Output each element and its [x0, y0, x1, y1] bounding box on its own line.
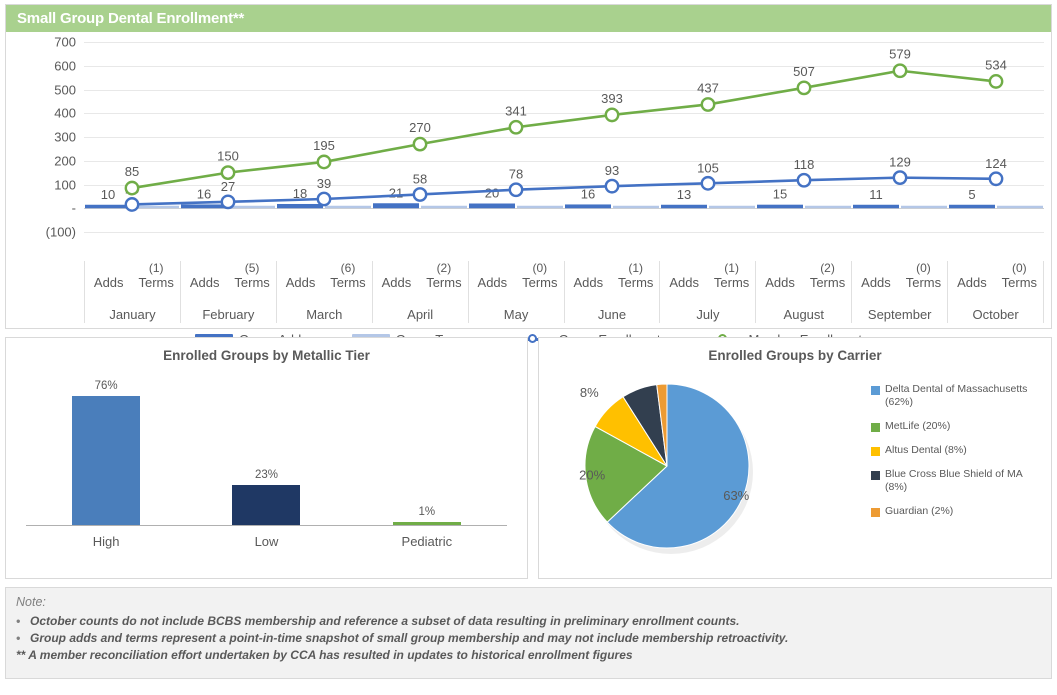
adds-header: Adds	[85, 275, 132, 290]
note-bullet-item: •Group adds and terms represent a point-…	[16, 630, 1041, 647]
group-adds-bar	[277, 204, 323, 208]
terms-header: Terms	[132, 275, 179, 290]
x-axis-month-label: March	[277, 307, 372, 322]
tier-bar-value-label: 1%	[419, 506, 436, 518]
x-axis-month-label: August	[756, 307, 851, 322]
bullet-icon: •	[16, 630, 24, 647]
tier-axis-line	[26, 525, 507, 526]
tier-bar-column: 76%	[26, 380, 186, 525]
group-enrollment-value-label: 39	[317, 176, 331, 191]
group-enrollment-value-label: 129	[889, 155, 911, 170]
member-enrollment-point	[990, 75, 1002, 87]
x-axis-terms-cell: (6)Terms	[324, 261, 371, 295]
y-axis-tick: 500	[6, 82, 76, 97]
x-axis-adds-cell: Adds	[948, 261, 995, 295]
x-axis-adds-cell: Adds	[373, 261, 420, 295]
group-adds-bar	[85, 205, 131, 209]
group-terms-value-label: (1)	[132, 261, 179, 275]
pie-legend: Delta Dental of Massachusetts (62%)MetLi…	[871, 383, 1043, 529]
pie-legend-label: Altus Dental (8%)	[885, 444, 967, 457]
lower-charts-row: Enrolled Groups by Metallic Tier 76%23%1…	[5, 337, 1052, 579]
group-enrollment-value-label: 78	[509, 167, 523, 182]
member-enrollment-value-label: 507	[793, 64, 815, 79]
x-axis-terms-cell: (1)Terms	[708, 261, 755, 295]
group-enrollment-value-label: 58	[413, 171, 427, 186]
x-axis-terms-cell: (0)Terms	[900, 261, 947, 295]
group-terms-value-label: (1)	[612, 261, 659, 275]
note-body: •October counts do not include BCBS memb…	[16, 613, 1041, 647]
group-adds-value-label: 15	[773, 187, 787, 202]
x-axis-month-label: June	[565, 307, 660, 322]
pie-slice-label: 63%	[723, 488, 749, 503]
y-axis-tick: 200	[6, 153, 76, 168]
member-enrollment-value-label: 150	[217, 149, 239, 164]
tier-category-labels: HighLowPediatric	[26, 534, 507, 556]
dashboard-page: Small Group Dental Enrollment** 70060050…	[0, 0, 1057, 695]
pie-legend-label: Blue Cross Blue Shield of MA (8%)	[885, 468, 1043, 494]
carrier-title: Enrolled Groups by Carrier	[539, 338, 1051, 363]
tier-category-label: Pediatric	[347, 534, 507, 556]
group-adds-value-label: 10	[101, 187, 115, 202]
group-adds-bar	[565, 204, 611, 208]
pie-legend-label: Guardian (2%)	[885, 505, 953, 518]
combo-chart-plot: 1016182120161315115162739587893105118129…	[84, 42, 1044, 232]
x-axis-month-group: Adds(0)TermsSeptember	[852, 261, 948, 323]
group-adds-bar	[853, 205, 899, 209]
group-terms-bar	[709, 206, 755, 209]
note-footnote: ** A member reconciliation effort undert…	[16, 647, 1041, 664]
tier-bars: 76%23%1%	[26, 380, 507, 525]
terms-header: Terms	[516, 275, 563, 290]
bullet-icon: •	[16, 613, 24, 630]
adds-header: Adds	[565, 275, 612, 290]
adds-header: Adds	[181, 275, 228, 290]
pie-legend-swatch-icon	[871, 508, 880, 517]
gridline	[84, 232, 1044, 233]
member-enrollment-point	[126, 182, 138, 194]
group-enrollment-point	[894, 171, 906, 183]
note-panel: Note: •October counts do not include BCB…	[5, 587, 1052, 679]
member-enrollment-point	[702, 98, 714, 110]
group-adds-bar	[373, 203, 419, 208]
x-axis-month-label: May	[469, 307, 564, 322]
group-enrollment-point	[126, 198, 138, 210]
member-enrollment-point	[510, 121, 522, 133]
pie-legend-label: Delta Dental of Massachusetts (62%)	[885, 383, 1043, 409]
member-enrollment-point	[606, 109, 618, 121]
x-axis-month-label: October	[948, 307, 1043, 322]
y-axis-tick: (100)	[6, 225, 76, 240]
group-enrollment-line	[132, 178, 996, 205]
pie-legend-item[interactable]: Guardian (2%)	[871, 505, 1043, 518]
group-terms-bar	[229, 206, 275, 209]
pie-legend-item[interactable]: Altus Dental (8%)	[871, 444, 1043, 457]
x-axis-month-group: Adds(2)TermsApril	[373, 261, 469, 323]
group-adds-value-label: 5	[968, 187, 975, 202]
pie-slice-label: 20%	[579, 467, 605, 482]
tier-bar-value-label: 76%	[95, 380, 118, 392]
group-terms-bar	[997, 206, 1043, 209]
y-axis-tick: 700	[6, 35, 76, 50]
enrollment-chart-panel: Small Group Dental Enrollment** 70060050…	[5, 4, 1052, 329]
adds-header: Adds	[948, 275, 995, 290]
pie-legend-swatch-icon	[871, 386, 880, 395]
pie-slice-label: 8%	[580, 385, 599, 400]
group-terms-bar	[421, 206, 467, 209]
pie-legend-label: MetLife (20%)	[885, 420, 950, 433]
group-terms-value-label: (5)	[228, 261, 275, 275]
x-axis-month-label: February	[181, 307, 276, 322]
pie-svg: 63%20%8%7%2%	[557, 371, 877, 561]
x-axis-terms-cell: (1)Terms	[612, 261, 659, 295]
group-adds-value-label: 21	[389, 185, 403, 200]
page-title: Small Group Dental Enrollment**	[17, 10, 244, 27]
terms-header: Terms	[708, 275, 755, 290]
terms-header: Terms	[804, 275, 851, 290]
terms-header: Terms	[612, 275, 659, 290]
group-terms-bar	[805, 206, 851, 209]
x-axis-adds-cell: Adds	[181, 261, 228, 295]
group-enrollment-point	[798, 174, 810, 186]
group-terms-bar	[613, 206, 659, 209]
metallic-tier-title: Enrolled Groups by Metallic Tier	[6, 338, 527, 363]
x-axis-terms-cell: (0)Terms	[996, 261, 1043, 295]
member-enrollment-value-label: 85	[125, 164, 139, 179]
group-enrollment-point	[510, 184, 522, 196]
pie-legend-item[interactable]: Delta Dental of Massachusetts (62%)	[871, 383, 1043, 409]
group-enrollment-point	[222, 196, 234, 208]
group-adds-value-label: 16	[581, 186, 595, 201]
group-adds-value-label: 11	[869, 187, 883, 202]
tier-bar	[72, 396, 140, 525]
terms-header: Terms	[228, 275, 275, 290]
x-axis-month-label: July	[660, 307, 755, 322]
tier-bar	[232, 485, 300, 525]
y-axis-tick: 300	[6, 130, 76, 145]
x-axis-table: Adds(1)TermsJanuaryAdds(5)TermsFebruaryA…	[84, 261, 1044, 323]
adds-header: Adds	[277, 275, 324, 290]
group-terms-bar	[325, 206, 371, 209]
carrier-pie-chart: 63%20%8%7%2% Delta Dental of Massachuset…	[539, 363, 1051, 568]
x-axis-terms-cell: (2)Terms	[420, 261, 467, 295]
group-adds-bar	[949, 205, 995, 209]
y-axis-tick: 400	[6, 106, 76, 121]
x-axis-month-group: Adds(0)TermsMay	[469, 261, 565, 323]
x-axis-month-label: January	[85, 307, 180, 322]
member-enrollment-value-label: 437	[697, 80, 719, 95]
member-enrollment-point	[414, 138, 426, 150]
x-axis-month-group: Adds(5)TermsFebruary	[181, 261, 277, 323]
group-adds-bar	[757, 205, 803, 209]
group-enrollment-value-label: 93	[605, 163, 619, 178]
x-axis-adds-cell: Adds	[852, 261, 899, 295]
member-enrollment-point	[222, 166, 234, 178]
group-terms-value-label: (6)	[324, 261, 371, 275]
group-terms-value-label: (1)	[708, 261, 755, 275]
y-axis-tick: 600	[6, 58, 76, 73]
adds-header: Adds	[660, 275, 707, 290]
member-enrollment-value-label: 579	[889, 47, 911, 62]
member-enrollment-value-label: 270	[409, 120, 431, 135]
x-axis-month-label: September	[852, 307, 947, 322]
group-terms-value-label: (2)	[804, 261, 851, 275]
x-axis-adds-cell: Adds	[565, 261, 612, 295]
x-axis-adds-cell: Adds	[85, 261, 132, 295]
group-enrollment-point	[318, 193, 330, 205]
pie-legend-swatch-icon	[871, 471, 880, 480]
group-terms-bar	[901, 206, 947, 209]
group-enrollment-point	[414, 188, 426, 200]
tier-bar-value-label: 23%	[255, 469, 278, 481]
member-enrollment-point	[318, 156, 330, 168]
pie-legend-swatch-icon	[871, 423, 880, 432]
note-bullet-text: October counts do not include BCBS membe…	[30, 613, 739, 630]
x-axis-terms-cell: (1)Terms	[132, 261, 179, 295]
group-enrollment-point	[606, 180, 618, 192]
terms-header: Terms	[996, 275, 1043, 290]
note-bullet-text: Group adds and terms represent a point-i…	[30, 630, 788, 647]
group-adds-bar	[661, 205, 707, 209]
member-enrollment-value-label: 393	[601, 91, 623, 106]
x-axis-month-group: Adds(1)TermsJanuary	[85, 261, 181, 323]
group-terms-bar	[517, 206, 563, 209]
x-axis-month-group: Adds(6)TermsMarch	[277, 261, 373, 323]
group-terms-bar	[133, 206, 179, 209]
x-axis-month-label: April	[373, 307, 468, 322]
y-axis-tick: 100	[6, 177, 76, 192]
member-enrollment-point	[798, 82, 810, 94]
group-adds-bar	[469, 204, 515, 209]
adds-header: Adds	[852, 275, 899, 290]
group-enrollment-value-label: 124	[985, 156, 1007, 171]
adds-header: Adds	[756, 275, 803, 290]
x-axis-month-group: Adds(2)TermsAugust	[756, 261, 852, 323]
tier-bar-column: 23%	[186, 380, 346, 525]
member-enrollment-line	[132, 71, 996, 188]
x-axis-adds-cell: Adds	[660, 261, 707, 295]
carrier-panel: Enrolled Groups by Carrier 63%20%8%7%2% …	[538, 337, 1052, 579]
x-axis-month-group: Adds(1)TermsJune	[565, 261, 661, 323]
x-axis-terms-cell: (2)Terms	[804, 261, 851, 295]
metallic-tier-panel: Enrolled Groups by Metallic Tier 76%23%1…	[5, 337, 528, 579]
group-adds-value-label: 16	[197, 186, 211, 201]
pie-legend-item[interactable]: Blue Cross Blue Shield of MA (8%)	[871, 468, 1043, 494]
group-adds-value-label: 13	[677, 187, 691, 202]
terms-header: Terms	[420, 275, 467, 290]
member-enrollment-value-label: 341	[505, 103, 527, 118]
x-axis-month-group: Adds(1)TermsJuly	[660, 261, 756, 323]
x-axis-month-group: Adds(0)TermsOctober	[948, 261, 1044, 323]
tier-category-label: High	[26, 534, 186, 556]
terms-header: Terms	[324, 275, 371, 290]
panel-header-banner: Small Group Dental Enrollment**	[6, 5, 1051, 32]
tier-bar-column: 1%	[347, 380, 507, 525]
adds-header: Adds	[469, 275, 516, 290]
pie-legend-item[interactable]: MetLife (20%)	[871, 420, 1043, 433]
terms-header: Terms	[900, 275, 947, 290]
x-axis-terms-cell: (5)Terms	[228, 261, 275, 295]
group-enrollment-point	[990, 173, 1002, 185]
group-terms-value-label: (0)	[900, 261, 947, 275]
group-enrollment-value-label: 27	[221, 179, 235, 194]
x-axis-terms-cell: (0)Terms	[516, 261, 563, 295]
pie-slice-label: 7%	[621, 371, 640, 373]
group-adds-bar	[181, 204, 227, 208]
y-axis-tick: -	[6, 201, 76, 216]
group-adds-value-label: 20	[485, 186, 499, 201]
x-axis-adds-cell: Adds	[756, 261, 803, 295]
metallic-tier-chart: 76%23%1% HighLowPediatric	[6, 363, 527, 568]
note-title: Note:	[16, 595, 1041, 609]
group-terms-value-label: (0)	[996, 261, 1043, 275]
tier-category-label: Low	[186, 534, 346, 556]
group-terms-value-label: (0)	[516, 261, 563, 275]
group-enrollment-value-label: 118	[794, 157, 815, 172]
pie-legend-swatch-icon	[871, 447, 880, 456]
member-enrollment-value-label: 534	[985, 57, 1007, 72]
member-enrollment-point	[894, 65, 906, 77]
combo-chart: 700600500400300200100-(100) 101618212016…	[6, 32, 1051, 328]
adds-header: Adds	[373, 275, 420, 290]
group-enrollment-point	[702, 177, 714, 189]
group-enrollment-value-label: 105	[697, 160, 719, 175]
x-axis-adds-cell: Adds	[277, 261, 324, 295]
x-axis-adds-cell: Adds	[469, 261, 516, 295]
group-terms-value-label: (2)	[420, 261, 467, 275]
note-bullet-item: •October counts do not include BCBS memb…	[16, 613, 1041, 630]
member-enrollment-value-label: 195	[313, 138, 335, 153]
